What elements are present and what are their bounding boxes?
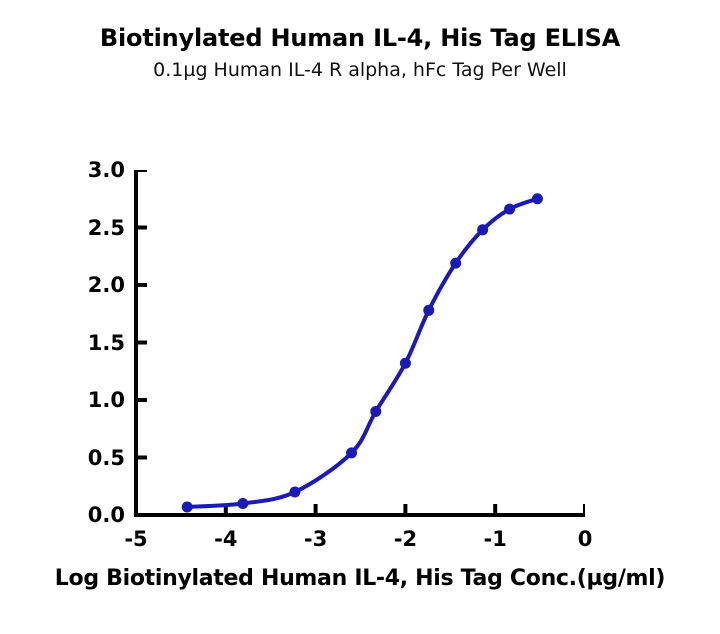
y-axis-title: Mean Abs.(OD450) [0,0,3,128]
data-point-4 [370,406,381,417]
y-tick-label-4: 2.0 [88,273,125,297]
data-series-markers [182,193,543,512]
data-point-8 [477,224,488,235]
y-tick-label-5: 2.5 [88,216,125,240]
data-series-line [187,199,537,507]
x-tick-label-2: -3 [304,527,327,551]
x-tick-label-4: -1 [484,527,507,551]
y-tick-label-2: 1.0 [88,388,125,412]
plot-area: 0.00.51.01.52.02.53.0 -5-4-3-2-10 [134,170,585,517]
data-point-9 [504,204,515,215]
y-tick-label-0: 0.0 [88,503,125,527]
data-point-2 [289,487,300,498]
data-point-6 [423,305,434,316]
elisa-chart-figure: Biotinylated Human IL-4, His Tag ELISA 0… [0,0,720,634]
data-point-10 [532,193,543,204]
y-tick-label-1: 0.5 [88,446,125,470]
y-tick-label-3: 1.5 [88,331,125,355]
x-tick-label-0: -5 [124,527,147,551]
x-tick-label-1: -4 [214,527,237,551]
chart-subtitle: 0.1µg Human IL-4 R alpha, hFc Tag Per We… [0,56,720,84]
x-tick-label-5: 0 [578,527,593,551]
x-axis-title: Log Biotinylated Human IL-4, His Tag Con… [0,566,720,591]
data-point-3 [346,447,357,458]
chart-header: Biotinylated Human IL-4, His Tag ELISA 0… [0,22,720,84]
x-tick-label-3: -2 [394,527,417,551]
data-point-5 [400,358,411,369]
data-point-7 [450,258,461,269]
axis-lines [136,170,585,515]
y-tick-label-6: 3.0 [88,158,125,182]
plot-svg [134,170,585,517]
chart-title: Biotinylated Human IL-4, His Tag ELISA [0,22,720,54]
data-point-1 [237,498,248,509]
data-point-0 [182,501,193,512]
